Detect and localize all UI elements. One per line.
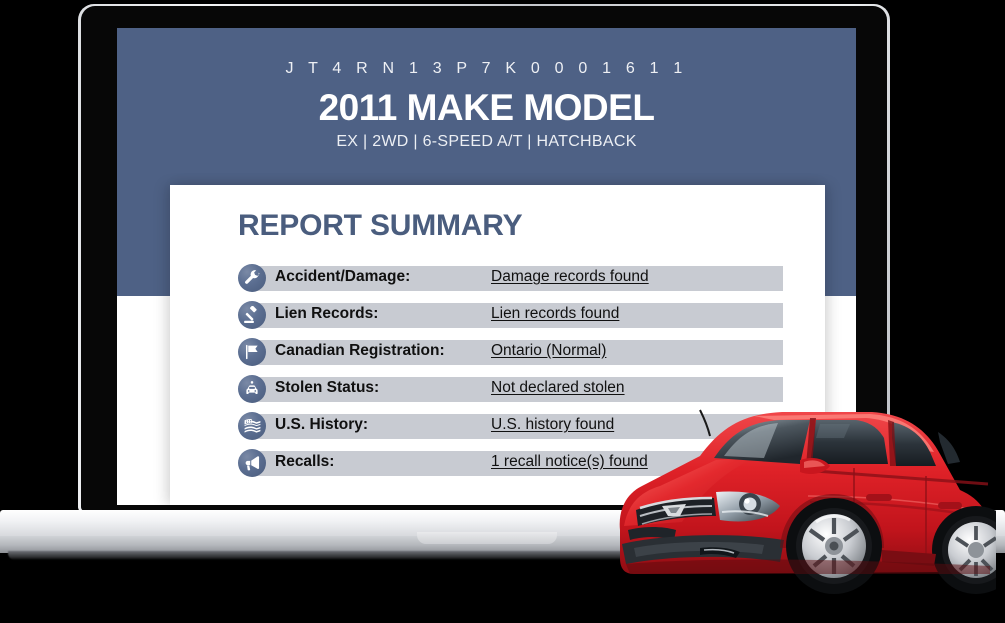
summary-row-value[interactable]: U.S. history found: [491, 416, 614, 434]
laptop-base-notch: [417, 532, 557, 544]
flag-icon: [238, 338, 266, 366]
vehicle-vin: J T 4 R N 1 3 P 7 K 0 0 0 1 6 1 1: [117, 60, 856, 78]
summary-row: Lien Records:Lien records found: [238, 299, 783, 336]
summary-row-label: Recalls:: [275, 453, 334, 471]
summary-row: Accident/Damage:Damage records found: [238, 262, 783, 299]
summary-row-label: Canadian Registration:: [275, 342, 445, 360]
wrench-icon: [238, 264, 266, 292]
megaphone-icon: [238, 449, 266, 477]
summary-row-value[interactable]: Damage records found: [491, 268, 649, 286]
police-car-icon: [238, 375, 266, 403]
summary-row-label: Stolen Status:: [275, 379, 379, 397]
us-flag-icon: [238, 412, 266, 440]
screenshot-stage: J T 4 R N 1 3 P 7 K 0 0 0 1 6 1 1 2011 M…: [0, 0, 1005, 623]
vehicle-trim-details: EX | 2WD | 6-SPEED A/T | HATCHBACK: [117, 133, 856, 151]
summary-row-label: Lien Records:: [275, 305, 378, 323]
summary-row-label: Accident/Damage:: [275, 268, 410, 286]
summary-row: Canadian Registration:Ontario (Normal): [238, 336, 783, 373]
summary-row-label: U.S. History:: [275, 416, 368, 434]
summary-row-value[interactable]: Lien records found: [491, 305, 619, 323]
red-hatchback-car: [604, 398, 996, 603]
page-title: REPORT SUMMARY: [238, 209, 522, 243]
summary-row-value[interactable]: Not declared stolen: [491, 379, 625, 397]
vehicle-title: 2011 MAKE MODEL: [117, 87, 856, 129]
gavel-icon: [238, 301, 266, 329]
summary-row-value[interactable]: Ontario (Normal): [491, 342, 606, 360]
